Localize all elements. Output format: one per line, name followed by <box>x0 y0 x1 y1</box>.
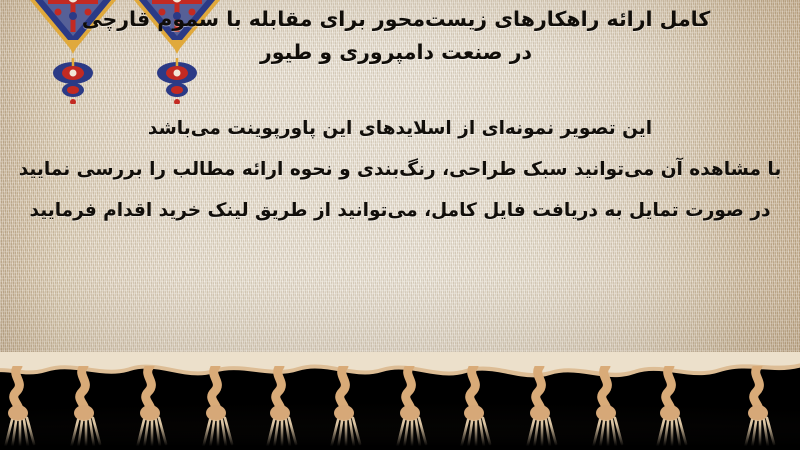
slide-body-line-1: این تصویر نمونه‌ای از اسلایدهای این پاور… <box>0 108 800 149</box>
fringe-bottom-shadow <box>0 424 800 450</box>
slide-body-line-2: با مشاهده آن می‌توانید سبک طراحی، رنگ‌بن… <box>0 149 800 190</box>
slide-title: کامل ارائه راهکارهای زیست‌محور برای مقاب… <box>0 3 800 69</box>
carpet-tassel-fringe <box>0 352 800 450</box>
slide-title-line-1: کامل ارائه راهکارهای زیست‌محور برای مقاب… <box>0 3 792 36</box>
slide-body: این تصویر نمونه‌ای از اسلایدهای این پاور… <box>0 108 800 231</box>
powerpoint-slide-preview: کامل ارائه راهکارهای زیست‌محور برای مقاب… <box>0 0 800 450</box>
slide-title-line-2: در صنعت دامپروری و طیور <box>0 36 792 69</box>
slide-body-line-3: در صورت تمایل به دریافت فایل کامل، می‌تو… <box>0 190 800 231</box>
slide-text-layer: کامل ارائه راهکارهای زیست‌محور برای مقاب… <box>0 0 800 384</box>
